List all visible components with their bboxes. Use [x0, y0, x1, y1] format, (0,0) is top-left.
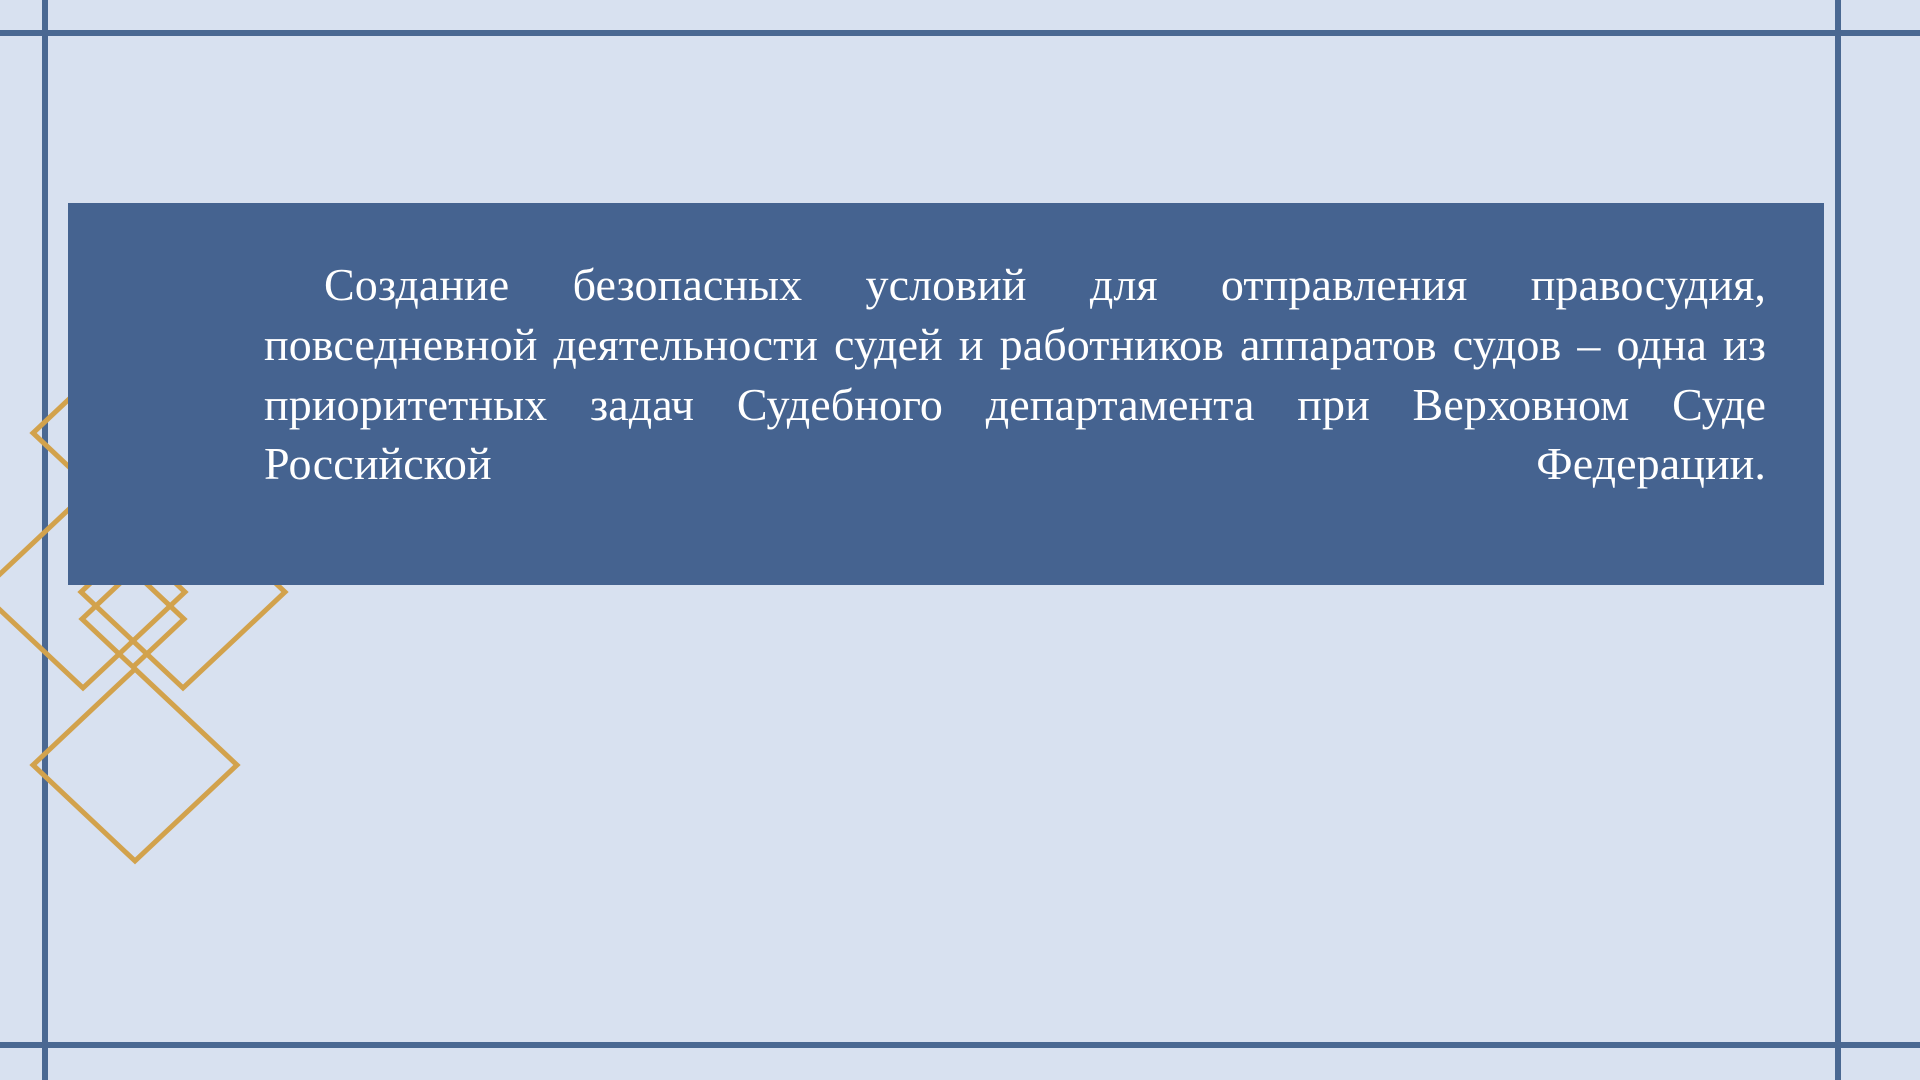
- frame-line-right-vertical: [1835, 0, 1841, 1080]
- slide-canvas: Создание безопасных условий для отправле…: [0, 0, 1920, 1080]
- panel-paragraph-text: Создание безопасных условий для отправле…: [264, 255, 1766, 554]
- frame-line-bottom-horizontal: [0, 1042, 1920, 1048]
- diamond-shape-bottom: [33, 669, 237, 861]
- frame-line-left-vertical: [42, 0, 48, 1080]
- content-panel: Создание безопасных условий для отправле…: [68, 203, 1824, 585]
- frame-line-top-horizontal: [0, 30, 1920, 36]
- diamond-shape-small: [82, 571, 184, 667]
